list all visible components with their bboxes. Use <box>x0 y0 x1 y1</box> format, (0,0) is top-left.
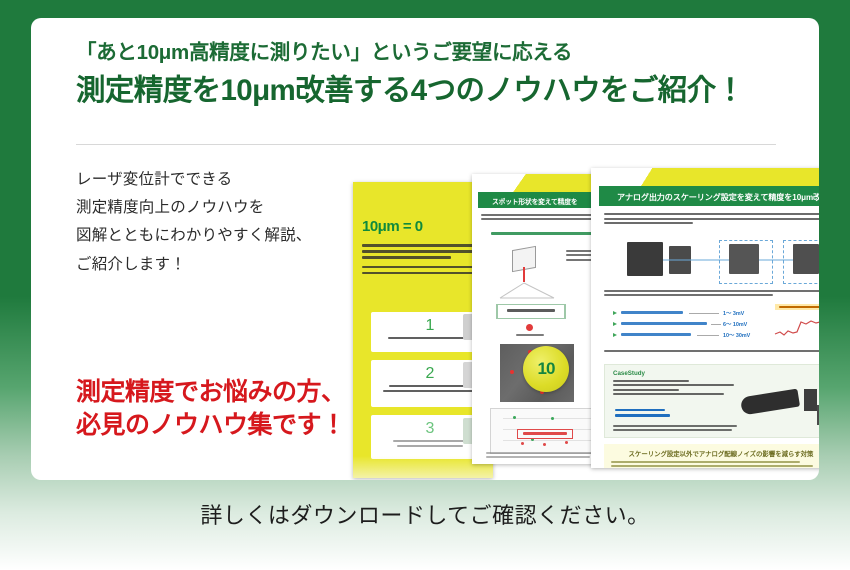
spot-type-label <box>496 304 566 319</box>
lead-line-3: 図解とともにわかりやすく解説、 <box>76 222 376 250</box>
spot-intro-text <box>481 214 605 222</box>
device-photos <box>611 240 819 284</box>
noise-row-3-value: 10〜 30mV <box>723 331 750 339</box>
lead-paragraph: レーザ変位計でできる 測定精度向上のノウハウを 図解とともにわかりやすく解説、 … <box>76 166 376 279</box>
noise-value-list: 1〜 3mV 6〜 10mV 10〜 30mV <box>613 308 763 341</box>
case-study-photo <box>741 383 819 431</box>
bullet-triangle-icon <box>613 322 617 326</box>
measurement-scatter-plot <box>490 408 596 454</box>
cover-body-text <box>362 244 485 278</box>
content-card: 「あと10μm高精度に測りたい」というご要望に応える 測定精度を10μm改善する… <box>31 18 819 480</box>
noise-waveform-caption <box>775 304 819 310</box>
noise-row-3: 10〜 30mV <box>613 330 763 341</box>
lead-line-2: 測定精度向上のノウハウを <box>76 194 376 222</box>
headline-block: 「あと10μm高精度に測りたい」というご要望に応える 測定精度を10μm改善する… <box>76 40 776 110</box>
case-study-title: CaseStudy <box>613 370 645 377</box>
analog-body-text <box>604 290 819 299</box>
analog-page-band: アナログ出力のスケーリング設定を変えて精度を10μm改善 <box>599 186 819 206</box>
countermeasure-note: スケーリング設定以外でアナログ配線ノイズの影響を減らす対策 <box>604 444 819 468</box>
document-thumbnail-analog-scaling[interactable]: アナログ出力のスケーリング設定を変えて精度を10μm改善 <box>591 168 819 468</box>
spot-section-label <box>482 232 604 239</box>
case-study-summary <box>613 425 745 433</box>
analog-intro-text <box>604 213 819 227</box>
spot-dot <box>526 324 533 331</box>
header-divider <box>76 144 776 145</box>
page-title: 測定精度を10μm改善する4つのノウハウをご紹介！ <box>76 72 776 110</box>
noise-row-2-value: 6〜 10mV <box>723 320 747 328</box>
lead-line-4: ご紹介します！ <box>76 251 376 279</box>
spot-footer-text <box>486 452 604 460</box>
case-study-conditions <box>613 380 739 398</box>
noise-waveform-svg <box>773 312 819 342</box>
noise-waveform <box>773 304 819 344</box>
case-study-mappings <box>615 409 685 420</box>
spot-diameter-caption <box>516 334 544 336</box>
noise-row-2: 6〜 10mV <box>613 319 763 330</box>
analog-band-title: アナログ出力のスケーリング設定を変えて精度を10μm改善 <box>599 186 819 203</box>
noise-row-1: 1〜 3mV <box>613 308 763 319</box>
highlight-badge: 10 <box>523 346 569 392</box>
document-preview-group: 10μm = 0 1 2 3 <box>353 168 819 478</box>
promo-banner: 「あと10μm高精度に測りたい」というご要望に応える 測定精度を10μm改善する… <box>0 0 850 570</box>
headline-subtitle: 「あと10μm高精度に測りたい」というご要望に応える <box>76 40 776 66</box>
analog-note-text <box>604 350 819 352</box>
bullet-triangle-icon <box>613 311 617 315</box>
footer-cta-text: 詳しくはダウンロードしてご確認ください。 <box>0 498 850 530</box>
laser-sensor-diagram <box>508 248 542 278</box>
plot-annotation <box>517 429 573 439</box>
highlight-badge-value: 10 <box>523 346 569 392</box>
countermeasure-title: スケーリング設定以外でアナログ配線ノイズの影響を減らす対策 <box>604 444 819 458</box>
noise-row-1-value: 1〜 3mV <box>723 309 744 317</box>
countermeasure-list <box>611 461 819 468</box>
device-connections <box>611 240 819 284</box>
cover-title: 10μm = 0 <box>362 218 487 235</box>
lead-line-1: レーザ変位計でできる <box>76 166 376 194</box>
laser-beam <box>523 267 525 282</box>
case-study-box: CaseStudy <box>604 364 819 438</box>
bullet-triangle-icon <box>613 333 617 337</box>
